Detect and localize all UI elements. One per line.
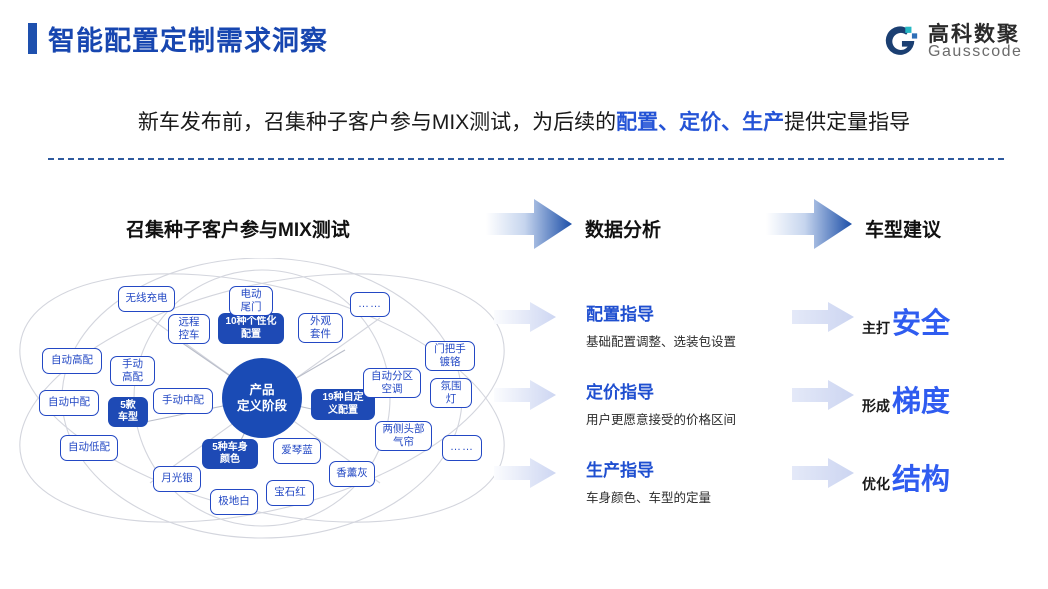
subtitle-part1: 新车发布前，召集种子客户参与MIX测试，为后续的 [138, 111, 616, 134]
mindmap-node-auto-low[interactable]: 自动低配 [60, 435, 118, 461]
gausscode-logo-icon [882, 21, 920, 59]
mindmap-node-manual-high[interactable]: 手动 高配 [110, 356, 155, 386]
analysis-title-production: 生产指导 [586, 456, 711, 481]
suggestion-row-safety: 主打 安全 [862, 300, 950, 342]
logo-text-en: Gausscode [928, 43, 1022, 61]
row-arrow-mid-1-icon [494, 302, 556, 332]
row-arrow-right-2-icon [792, 380, 854, 410]
analysis-desc-pricing: 用户更愿意接受的价格区间 [586, 409, 736, 428]
analysis-row-pricing: 定价指导 用户更愿意接受的价格区间 [586, 378, 736, 428]
mindmap-node-lavender-grey[interactable]: 香薰灰 [329, 461, 375, 487]
subtitle-part2: 提供定量指导 [784, 111, 910, 134]
mindmap-node-chrome-door-handle[interactable]: 门把手 镀铬 [425, 341, 475, 371]
mindmap-node-moonlight-silver[interactable]: 月光银 [153, 466, 201, 492]
subtitle: 新车发布前，召集种子客户参与MIX测试，为后续的配置、定价、生产提供定量指导 [0, 106, 1048, 136]
subtitle-highlight: 配置、定价、生产 [616, 111, 784, 134]
brand-logo: 高科数聚 Gausscode [882, 18, 1030, 64]
suggestion-keyword-gradient: 梯度 [892, 378, 950, 420]
mindmap-diagram: 产品 定义阶段 10种个性化 配置 19种自定 义配置 5款 车型 5种车身 颜… [0, 258, 520, 543]
flow-arrow-2-icon [766, 198, 852, 250]
mindmap-node-side-head-airbag[interactable]: 两侧头部 气帘 [375, 421, 432, 451]
column-header-analysis: 数据分析 [585, 215, 661, 242]
mindmap-hub[interactable]: 产品 定义阶段 [222, 358, 302, 438]
suggestion-keyword-safety: 安全 [892, 300, 950, 342]
mindmap-node-manual-mid[interactable]: 手动中配 [153, 388, 213, 414]
page-title: 智能配置定制需求洞察 [48, 19, 328, 58]
analysis-title-config: 配置指导 [586, 300, 736, 325]
suggestion-prefix-gradient: 形成 [862, 396, 890, 416]
analysis-desc-production: 车身颜色、车型的定量 [586, 487, 711, 506]
row-arrow-right-3-icon [792, 458, 854, 488]
mindmap-node-ambient-light[interactable]: 氛围 灯 [430, 378, 472, 408]
mindmap-node-polar-white[interactable]: 极地白 [210, 489, 258, 515]
suggestion-prefix-safety: 主打 [862, 318, 890, 338]
suggestion-keyword-structure: 结构 [892, 456, 950, 498]
column-header-suggestion: 车型建议 [865, 215, 941, 242]
flow-arrow-1-icon [486, 198, 572, 250]
page-header: 智能配置定制需求洞察 高科数聚 Gausscode [0, 0, 1048, 78]
mindmap-node-auto-high[interactable]: 自动高配 [42, 348, 102, 374]
title-accent-bar [28, 23, 37, 54]
mindmap-node-auto-mid[interactable]: 自动中配 [39, 390, 99, 416]
mindmap-node-wireless-charging[interactable]: 无线充电 [118, 286, 175, 312]
mindmap-node-dual-zone-ac[interactable]: 自动分区 空调 [363, 368, 421, 398]
mindmap-node-more-top[interactable]: …… [350, 292, 390, 317]
analysis-desc-config: 基础配置调整、选装包设置 [586, 331, 736, 350]
suggestion-row-gradient: 形成 梯度 [862, 378, 950, 420]
section-divider [48, 158, 1004, 160]
analysis-row-production: 生产指导 车身颜色、车型的定量 [586, 456, 711, 506]
row-arrow-mid-3-icon [494, 458, 556, 488]
mindmap-node-aegean-blue[interactable]: 爱琴蓝 [273, 438, 321, 464]
mindmap-branch-colors[interactable]: 5种车身 颜色 [202, 439, 258, 469]
suggestion-prefix-structure: 优化 [862, 474, 890, 494]
column-header-collect: 召集种子客户参与MIX测试 [126, 215, 350, 242]
mindmap-node-more-right[interactable]: …… [442, 435, 482, 461]
mindmap-branch-models[interactable]: 5款 车型 [108, 397, 148, 427]
row-arrow-mid-2-icon [494, 380, 556, 410]
suggestion-row-structure: 优化 结构 [862, 456, 950, 498]
mindmap-node-exterior-kit[interactable]: 外观 套件 [298, 313, 343, 343]
mindmap-node-ruby-red[interactable]: 宝石红 [266, 480, 314, 506]
mindmap-branch-personalized[interactable]: 10种个性化 配置 [218, 313, 284, 344]
analysis-title-pricing: 定价指导 [586, 378, 736, 403]
mindmap-node-remote-control[interactable]: 远程 控车 [168, 314, 210, 344]
row-arrow-right-1-icon [792, 302, 854, 332]
analysis-row-config: 配置指导 基础配置调整、选装包设置 [586, 300, 736, 350]
mindmap-node-power-tailgate[interactable]: 电动 尾门 [229, 286, 273, 316]
